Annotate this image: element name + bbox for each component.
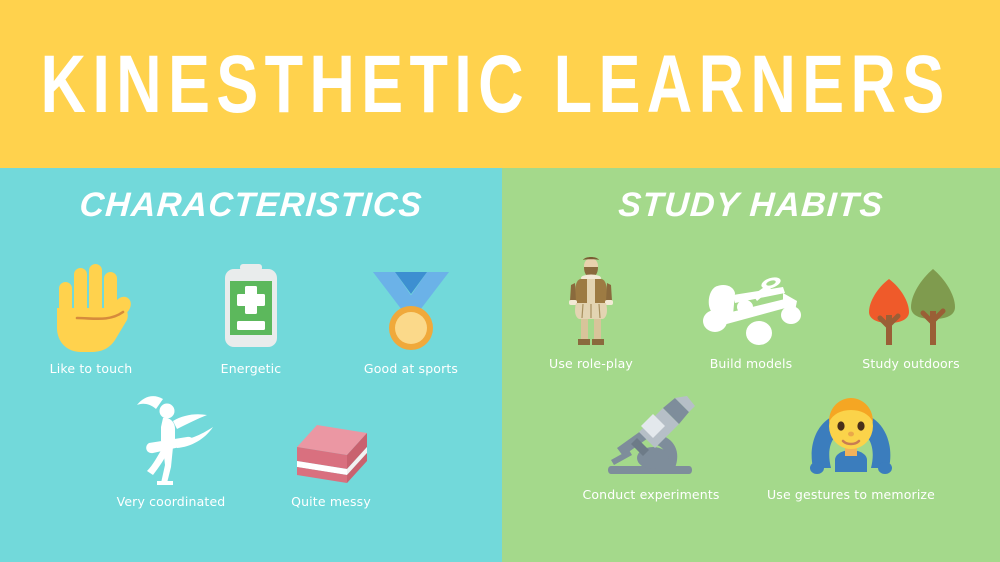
item-quite-messy: Quite messy — [251, 393, 411, 509]
raised-hand-icon — [47, 260, 135, 352]
item-label: Use role-play — [549, 356, 633, 371]
page-title: KINESTHETIC LEARNERS — [41, 43, 951, 125]
kinesthetic-learners-infographic: KINESTHETIC LEARNERS — [0, 0, 1000, 562]
sports-medal-icon — [365, 260, 457, 352]
characteristics-row-top: Like to touch — [0, 248, 502, 376]
study-habits-row-top: Use role-play — [502, 248, 1000, 371]
characteristics-row-bottom: Very coordinated — [0, 386, 502, 509]
two-trees-icon — [859, 255, 963, 347]
go-kart-icon — [699, 255, 803, 347]
item-label: Very coordinated — [117, 494, 226, 509]
item-label: Like to touch — [50, 361, 133, 376]
item-build-models: Build models — [671, 255, 831, 371]
content-columns: CHARACTERISTICS — [0, 168, 1000, 562]
item-use-gestures-to-memorize: Use gestures to memorize — [751, 386, 951, 502]
item-good-at-sports: Good at sports — [331, 260, 491, 376]
item-very-coordinated: Very coordinated — [91, 386, 251, 509]
item-label: Conduct experiments — [582, 487, 719, 502]
item-energetic: Energetic — [171, 248, 331, 376]
item-use-role-play: Use role-play — [511, 248, 671, 371]
microscope-icon — [601, 386, 701, 478]
column-study-habits: STUDY HABITS — [502, 168, 1000, 562]
item-label: Use gestures to memorize — [767, 487, 935, 502]
study-habits-row-bottom: Conduct experiments — [502, 386, 1000, 502]
item-label: Good at sports — [364, 361, 458, 376]
item-label: Quite messy — [291, 494, 371, 509]
item-label: Energetic — [221, 361, 282, 376]
item-study-outdoors: Study outdoors — [831, 248, 991, 371]
item-label: Build models — [710, 356, 793, 371]
person-gesturing-icon — [805, 386, 897, 478]
column-characteristics: CHARACTERISTICS — [0, 168, 502, 562]
item-label: Study outdoors — [862, 356, 960, 371]
battery-icon — [220, 260, 282, 352]
item-conduct-experiments: Conduct experiments — [551, 386, 751, 502]
column-heading-study-habits: STUDY HABITS — [501, 186, 1000, 225]
column-heading-characteristics: CHARACTERISTICS — [0, 186, 503, 225]
header-banner: KINESTHETIC LEARNERS — [0, 0, 1000, 168]
costumed-actor-icon — [563, 255, 619, 347]
ballerina-icon — [123, 393, 219, 485]
eraser-icon — [283, 393, 379, 485]
item-like-to-touch: Like to touch — [11, 248, 171, 376]
